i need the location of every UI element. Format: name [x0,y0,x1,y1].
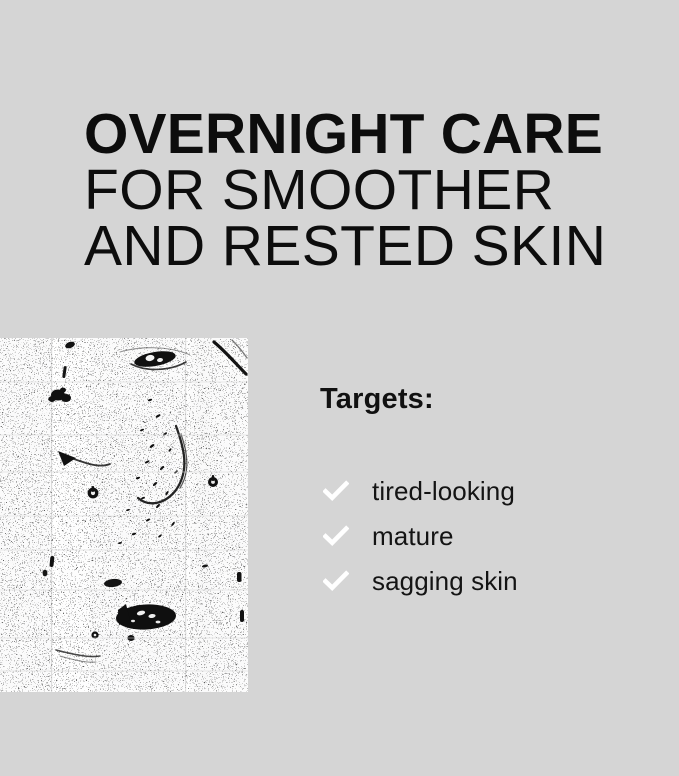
targets-title: Targets: [320,382,650,416]
heading-line-1: OVERNIGHT CARE [84,106,644,162]
list-item: sagging skin [323,558,653,603]
heading-line-2: FOR SMOOTHER [84,162,644,218]
targets-list: tired-looking mature sagging skin [323,468,653,603]
check-icon [323,478,349,504]
list-item: mature [323,513,653,558]
promo-banner: OVERNIGHT CARE FOR SMOOTHER AND RESTED S… [0,0,679,776]
list-item-label: sagging skin [372,566,518,596]
page-title: OVERNIGHT CARE FOR SMOOTHER AND RESTED S… [84,106,644,274]
heading-line-3: AND RESTED SKIN [84,218,644,274]
list-item: tired-looking [323,468,653,513]
list-item-label: tired-looking [372,476,515,506]
list-item-label: mature [372,521,454,551]
birch-bark-image [0,338,248,692]
check-icon [323,523,349,549]
check-icon [323,568,349,594]
targets-panel: Targets: tired-looking mature [320,382,650,416]
